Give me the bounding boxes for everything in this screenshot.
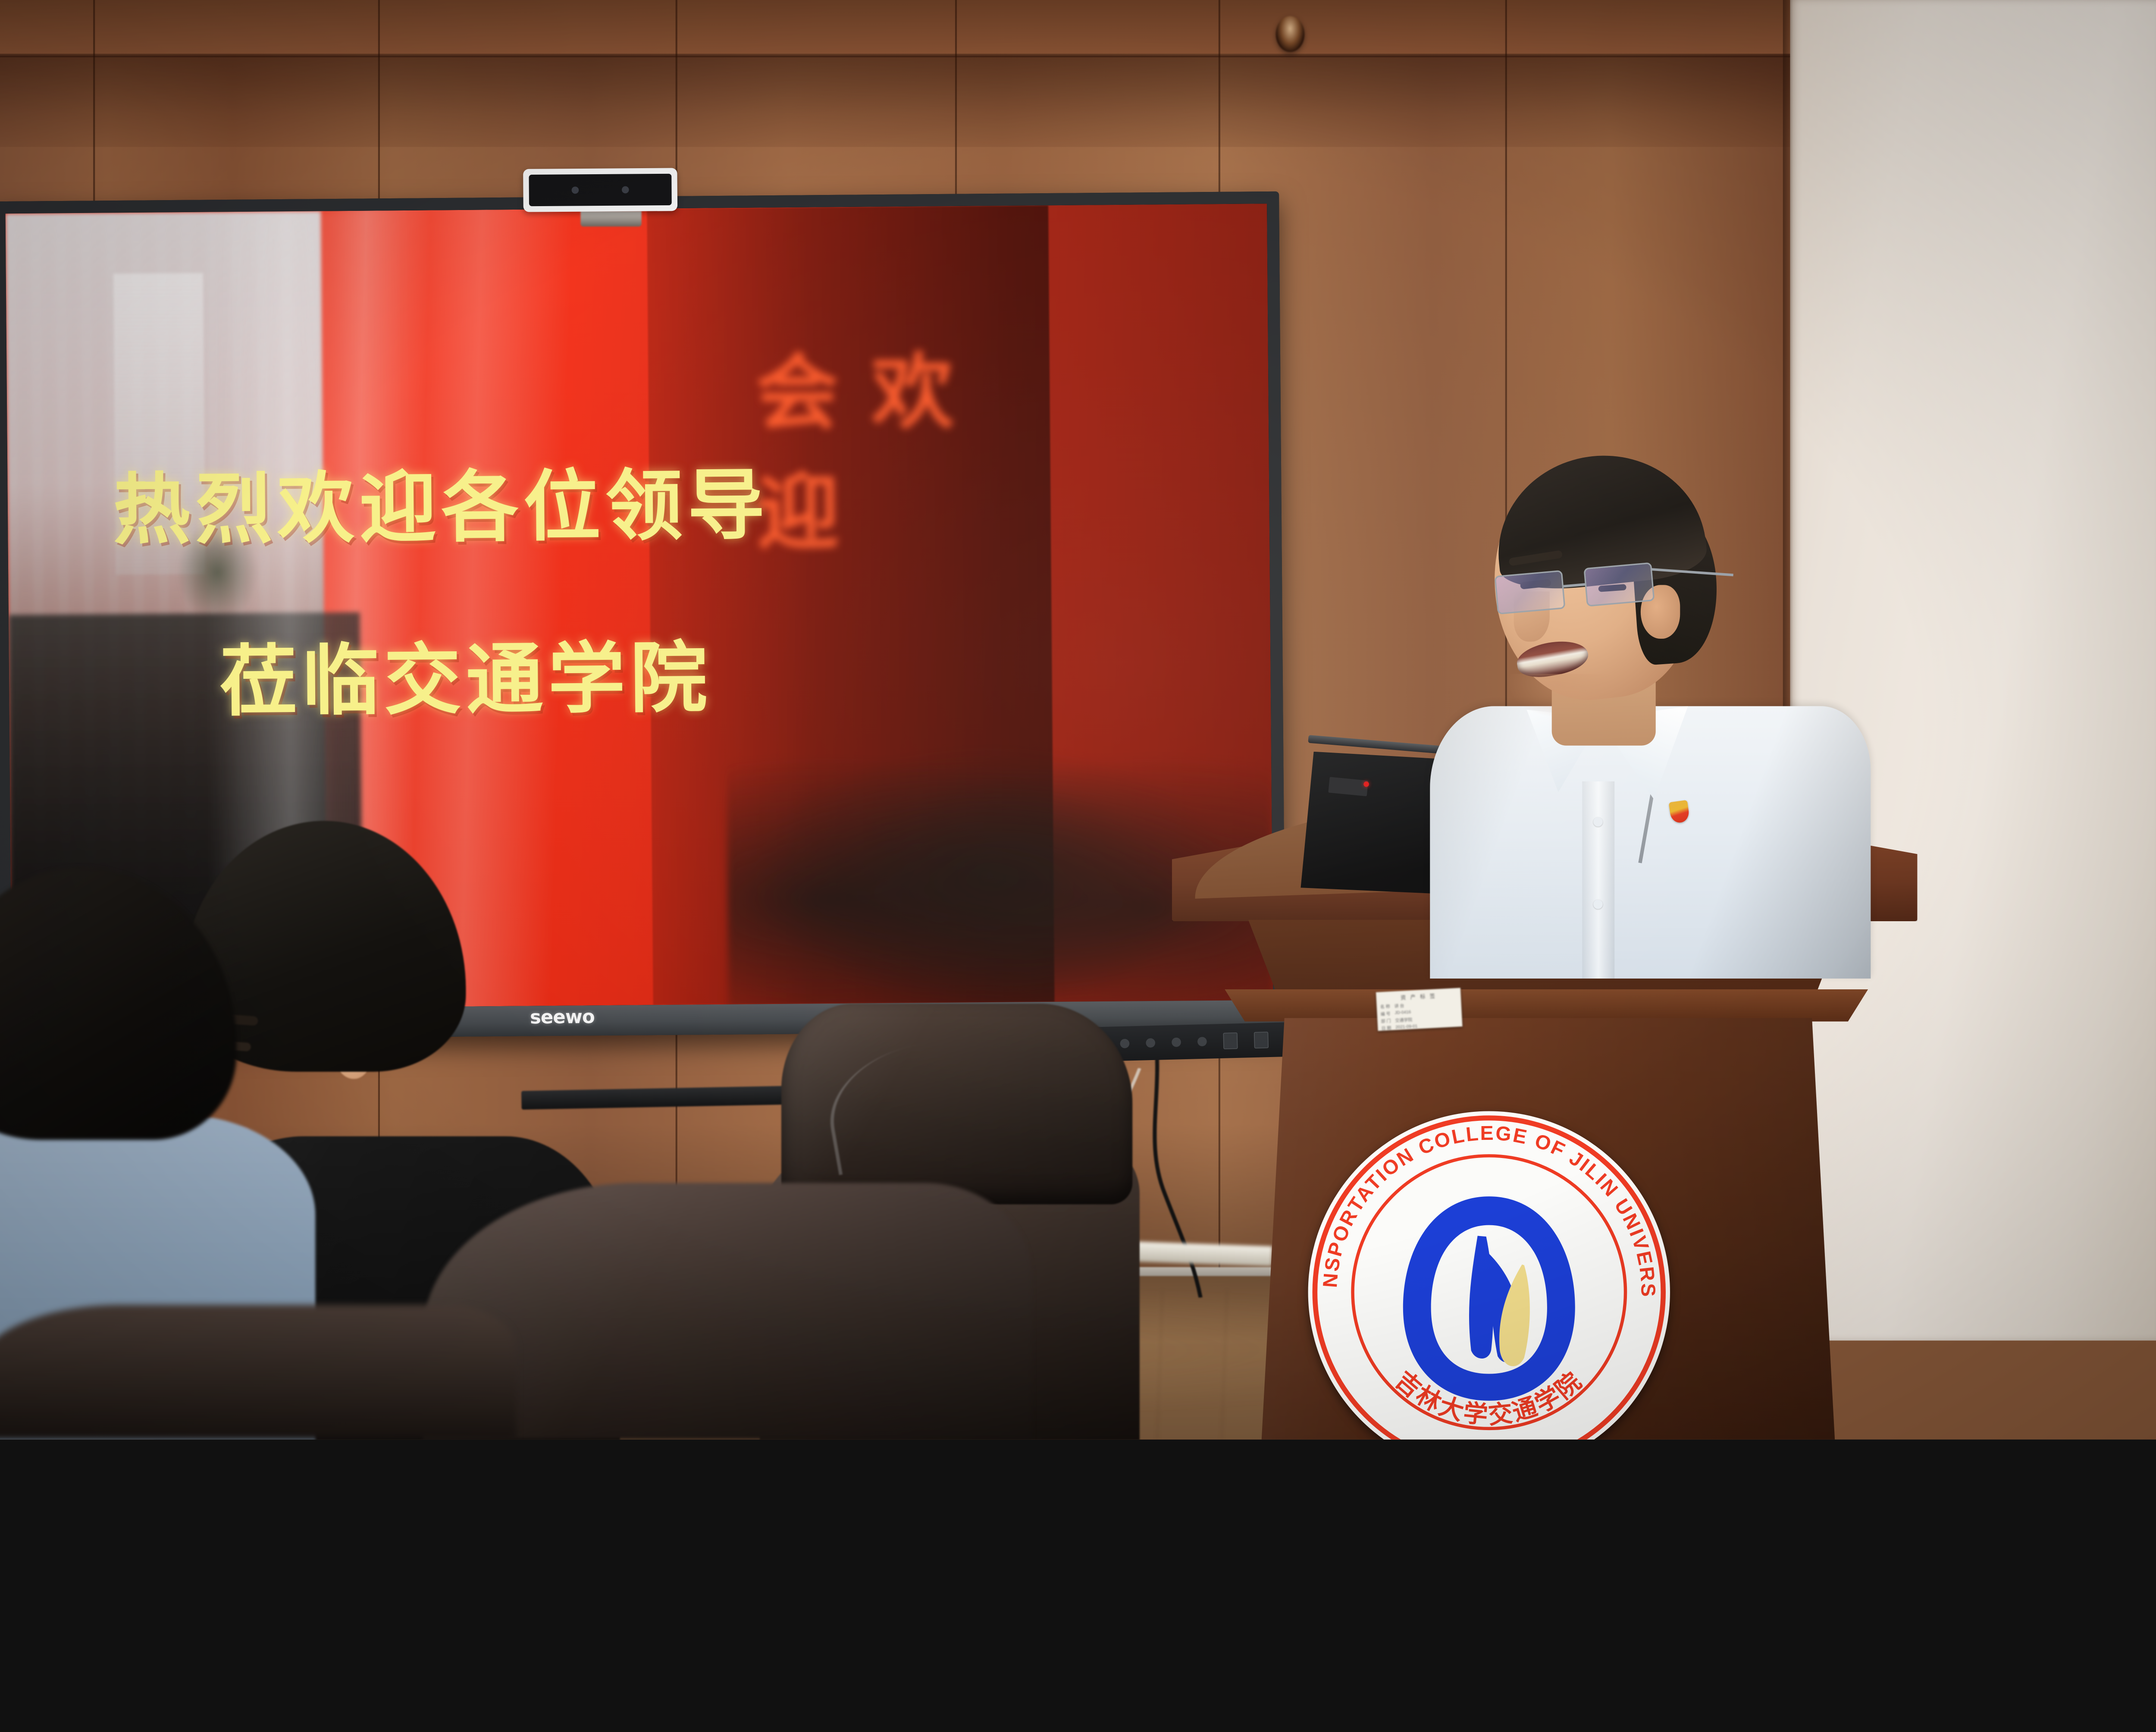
- college-emblem: TRANSPORTATION COLLEGE OF JILIN UNIVERSI…: [1308, 1111, 1670, 1439]
- leather-chair-foreground: [0, 1305, 516, 1440]
- asset-tag-label: 日 期: [1381, 1025, 1391, 1031]
- asset-tag-value: JD-0416: [1395, 1010, 1411, 1017]
- wall-shadow-band: [0, 54, 1790, 147]
- camera-mic-icon: [622, 186, 629, 194]
- shirt-button: [1593, 817, 1603, 827]
- wall-fixture-icon: [1276, 16, 1304, 52]
- camera-bar-icon: [523, 168, 677, 212]
- slide-headline-line-2: 莅临交通学院: [219, 615, 713, 731]
- volume-down-button[interactable]: [1146, 1038, 1155, 1048]
- asset-tag-rows: 名 称 讲 台 编 号 JD-0416 部 门 交通学院 日 期 2021-09…: [1380, 1000, 1459, 1031]
- camera-mount: [580, 211, 641, 227]
- asset-tag-value: 交通学院: [1395, 1017, 1413, 1023]
- eyeglass-lens-right: [1583, 562, 1655, 607]
- wall-upper-trim: [0, 0, 1790, 54]
- podium-asset-tag: 资 产 标 签 名 称 讲 台 编 号 JD-0416 部 门 交通学院 日 期…: [1376, 988, 1463, 1031]
- asset-tag-label: 部 门: [1381, 1018, 1391, 1024]
- conference-room-photo: 会 欢 迎 热烈欢迎各位领导 莅临交通学院 seewo: [0, 0, 2156, 1440]
- shirt-button: [1593, 900, 1603, 909]
- camera-lens-strip: [529, 174, 671, 206]
- speaker-chin: [1509, 674, 1613, 717]
- asset-tag-label: 名 称: [1380, 1004, 1390, 1010]
- wall-seam-horizontal: [0, 56, 1790, 57]
- eyeglass-lens-left: [1494, 570, 1565, 615]
- asset-tag-value: 讲 台: [1394, 1003, 1404, 1009]
- attendee-hair: [0, 867, 237, 1140]
- eyeglass-bridge: [1564, 583, 1586, 587]
- podium-collar: [1211, 989, 1881, 1022]
- speaker-shirt-placket: [1582, 781, 1614, 979]
- slide-headline-line-1: 热烈欢迎各位领导: [113, 442, 770, 559]
- asset-tag-label: 编 号: [1381, 1010, 1391, 1017]
- speaker-person: [1419, 423, 1871, 975]
- emblem-logo-mark: [1382, 1182, 1597, 1412]
- camera-lens-icon: [572, 187, 579, 194]
